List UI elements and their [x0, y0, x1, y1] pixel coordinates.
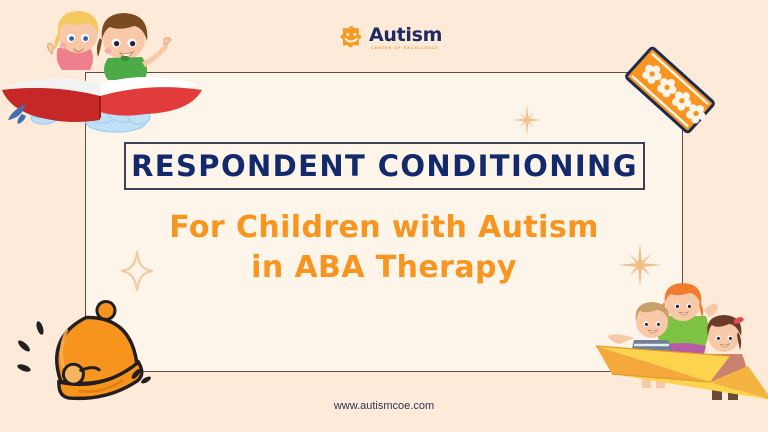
orange-flower-ribbon-decoration: [608, 34, 732, 146]
subtitle: For Children with Autism in ABA Therapy: [85, 208, 683, 288]
logo-wordmark: Autism: [369, 26, 442, 45]
subtitle-line-1: For Children with Autism: [85, 208, 683, 248]
children-reading-flying-book-illustration: [0, 0, 208, 142]
page-title: RESPONDENT CONDITIONING: [131, 149, 638, 183]
website-url[interactable]: www.autismcoe.com: [0, 400, 768, 412]
title-box: RESPONDENT CONDITIONING: [124, 142, 645, 190]
eight-point-sparkle-icon: [512, 105, 542, 135]
ringing-bell-illustration: [10, 288, 160, 416]
logo-tagline: CENTER OF EXCELLENCE: [369, 47, 442, 51]
children-paper-plane-illustration: [596, 282, 768, 406]
subtitle-line-2: in ABA Therapy: [85, 248, 683, 288]
poster-canvas: Autism CENTER OF EXCELLENCE RESPONDENT C…: [0, 0, 768, 432]
autism-coe-logo[interactable]: Autism CENTER OF EXCELLENCE: [335, 18, 445, 58]
autism-puzzle-smiley-icon: [335, 23, 365, 53]
